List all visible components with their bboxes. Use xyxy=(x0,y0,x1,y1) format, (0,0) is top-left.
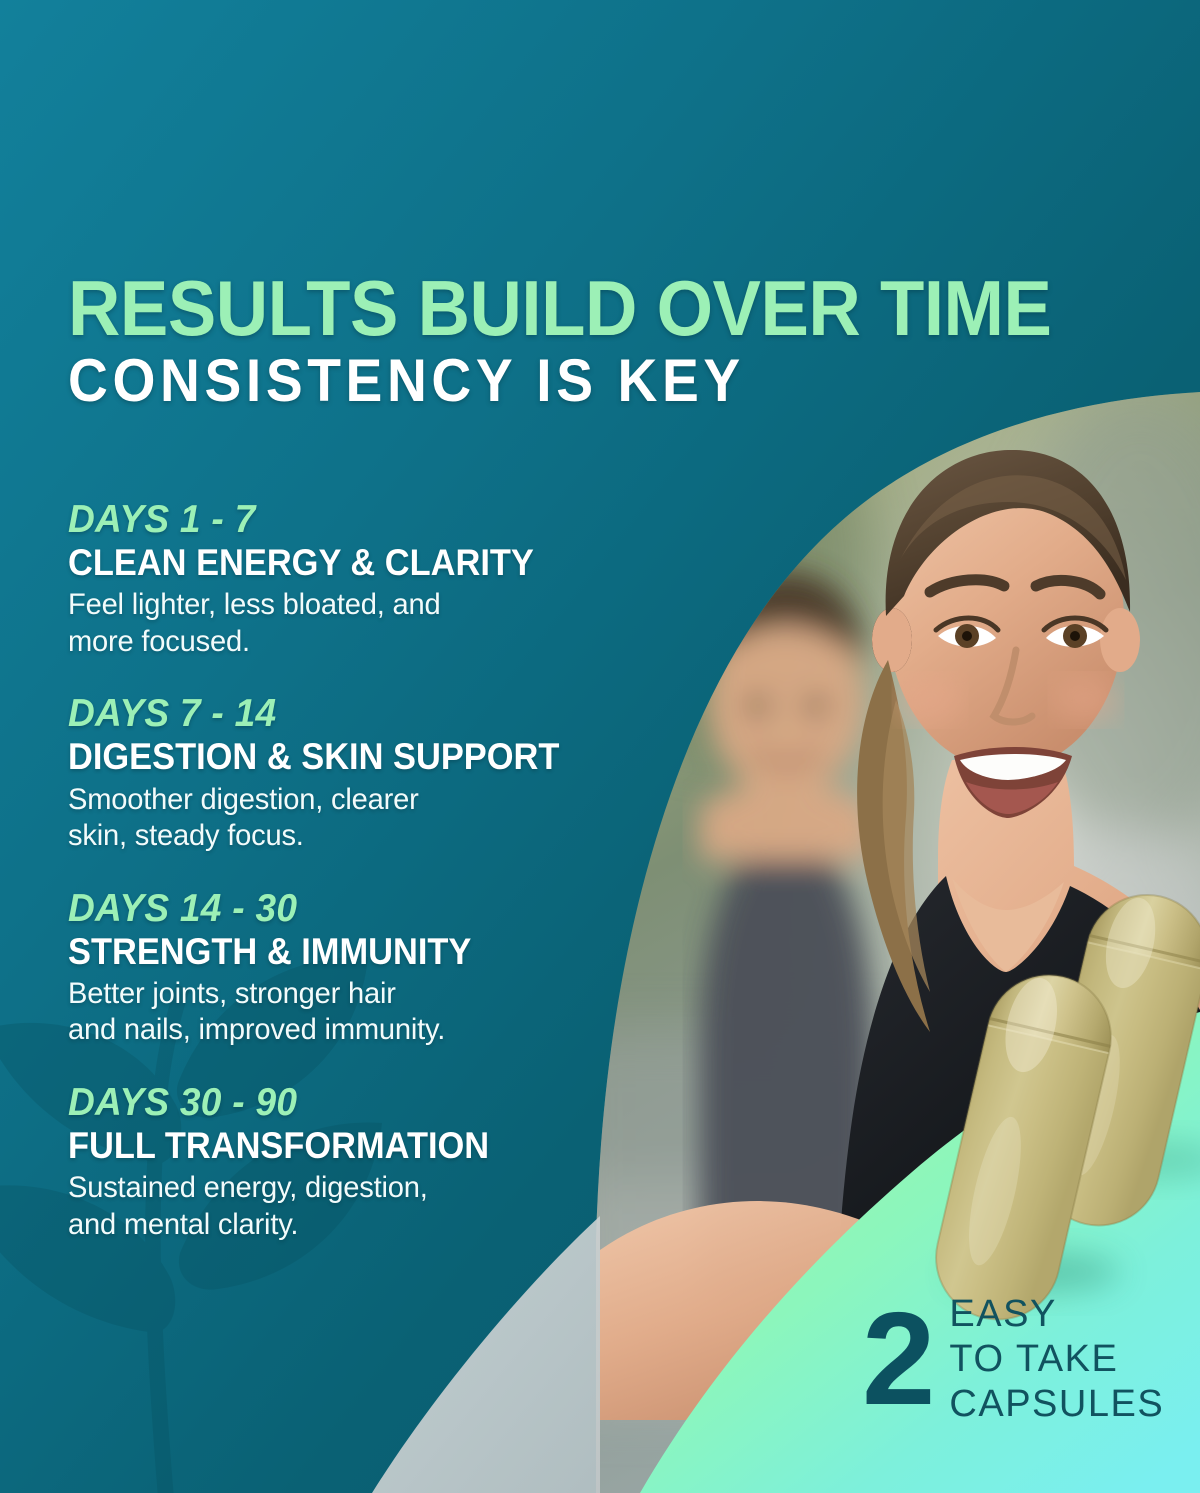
dosage-line-3: CAPSULES xyxy=(949,1382,1164,1427)
timeline-title: CLEAN ENERGY & CLARITY xyxy=(68,543,607,582)
timeline-description-line-1: Smoother digestion, clearer xyxy=(68,782,631,819)
headline-line-1: RESULTS BUILD OVER TIME xyxy=(68,272,1072,345)
timeline-block-days-30-90: DAYS 30 - 90 FULL TRANSFORMATION Sustain… xyxy=(68,1083,648,1243)
timeline-description: Feel lighter, less bloated, and more foc… xyxy=(68,587,631,660)
timeline-block-days-14-30: DAYS 14 - 30 STRENGTH & IMMUNITY Better … xyxy=(68,889,648,1049)
timeline-title: DIGESTION & SKIN SUPPORT xyxy=(68,737,607,776)
timeline-days-label: DAYS 14 - 30 xyxy=(68,889,619,930)
timeline-description-line-2: and nails, improved immunity. xyxy=(68,1012,631,1049)
timeline-title: STRENGTH & IMMUNITY xyxy=(68,932,607,971)
timeline-days-label: DAYS 7 - 14 xyxy=(68,694,619,735)
timeline-title: FULL TRANSFORMATION xyxy=(68,1126,607,1165)
timeline-description-line-1: Feel lighter, less bloated, and xyxy=(68,587,631,624)
timeline-days-label: DAYS 1 - 7 xyxy=(68,500,619,541)
timeline-block-days-7-14: DAYS 7 - 14 DIGESTION & SKIN SUPPORT Smo… xyxy=(68,694,648,854)
timeline-description: Better joints, stronger hair and nails, … xyxy=(68,976,631,1049)
dosage-count: 2 xyxy=(862,1306,931,1412)
timeline-description-line-1: Sustained energy, digestion, xyxy=(68,1170,631,1207)
benefit-timeline: DAYS 1 - 7 CLEAN ENERGY & CLARITY Feel l… xyxy=(68,500,648,1243)
dosage-text: EASY TO TAKE CAPSULES xyxy=(949,1292,1164,1426)
dosage-line-1: EASY xyxy=(949,1292,1164,1337)
timeline-block-days-1-7: DAYS 1 - 7 CLEAN ENERGY & CLARITY Feel l… xyxy=(68,500,648,660)
dosage-line-2: TO TAKE xyxy=(949,1337,1164,1382)
timeline-description-line-2: and mental clarity. xyxy=(68,1207,631,1244)
timeline-description: Sustained energy, digestion, and mental … xyxy=(68,1170,631,1243)
timeline-description-line-1: Better joints, stronger hair xyxy=(68,976,631,1013)
timeline-description-line-2: more focused. xyxy=(68,624,631,661)
timeline-description-line-2: skin, steady focus. xyxy=(68,818,631,855)
timeline-description: Smoother digestion, clearer skin, steady… xyxy=(68,782,631,855)
dosage-badge: 2 EASY TO TAKE CAPSULES xyxy=(862,1292,1164,1426)
headline: RESULTS BUILD OVER TIME CONSISTENCY IS K… xyxy=(68,272,1148,411)
timeline-days-label: DAYS 30 - 90 xyxy=(68,1083,619,1124)
headline-line-2: CONSISTENCY IS KEY xyxy=(68,351,1062,411)
poster: RESULTS BUILD OVER TIME CONSISTENCY IS K… xyxy=(0,0,1200,1493)
